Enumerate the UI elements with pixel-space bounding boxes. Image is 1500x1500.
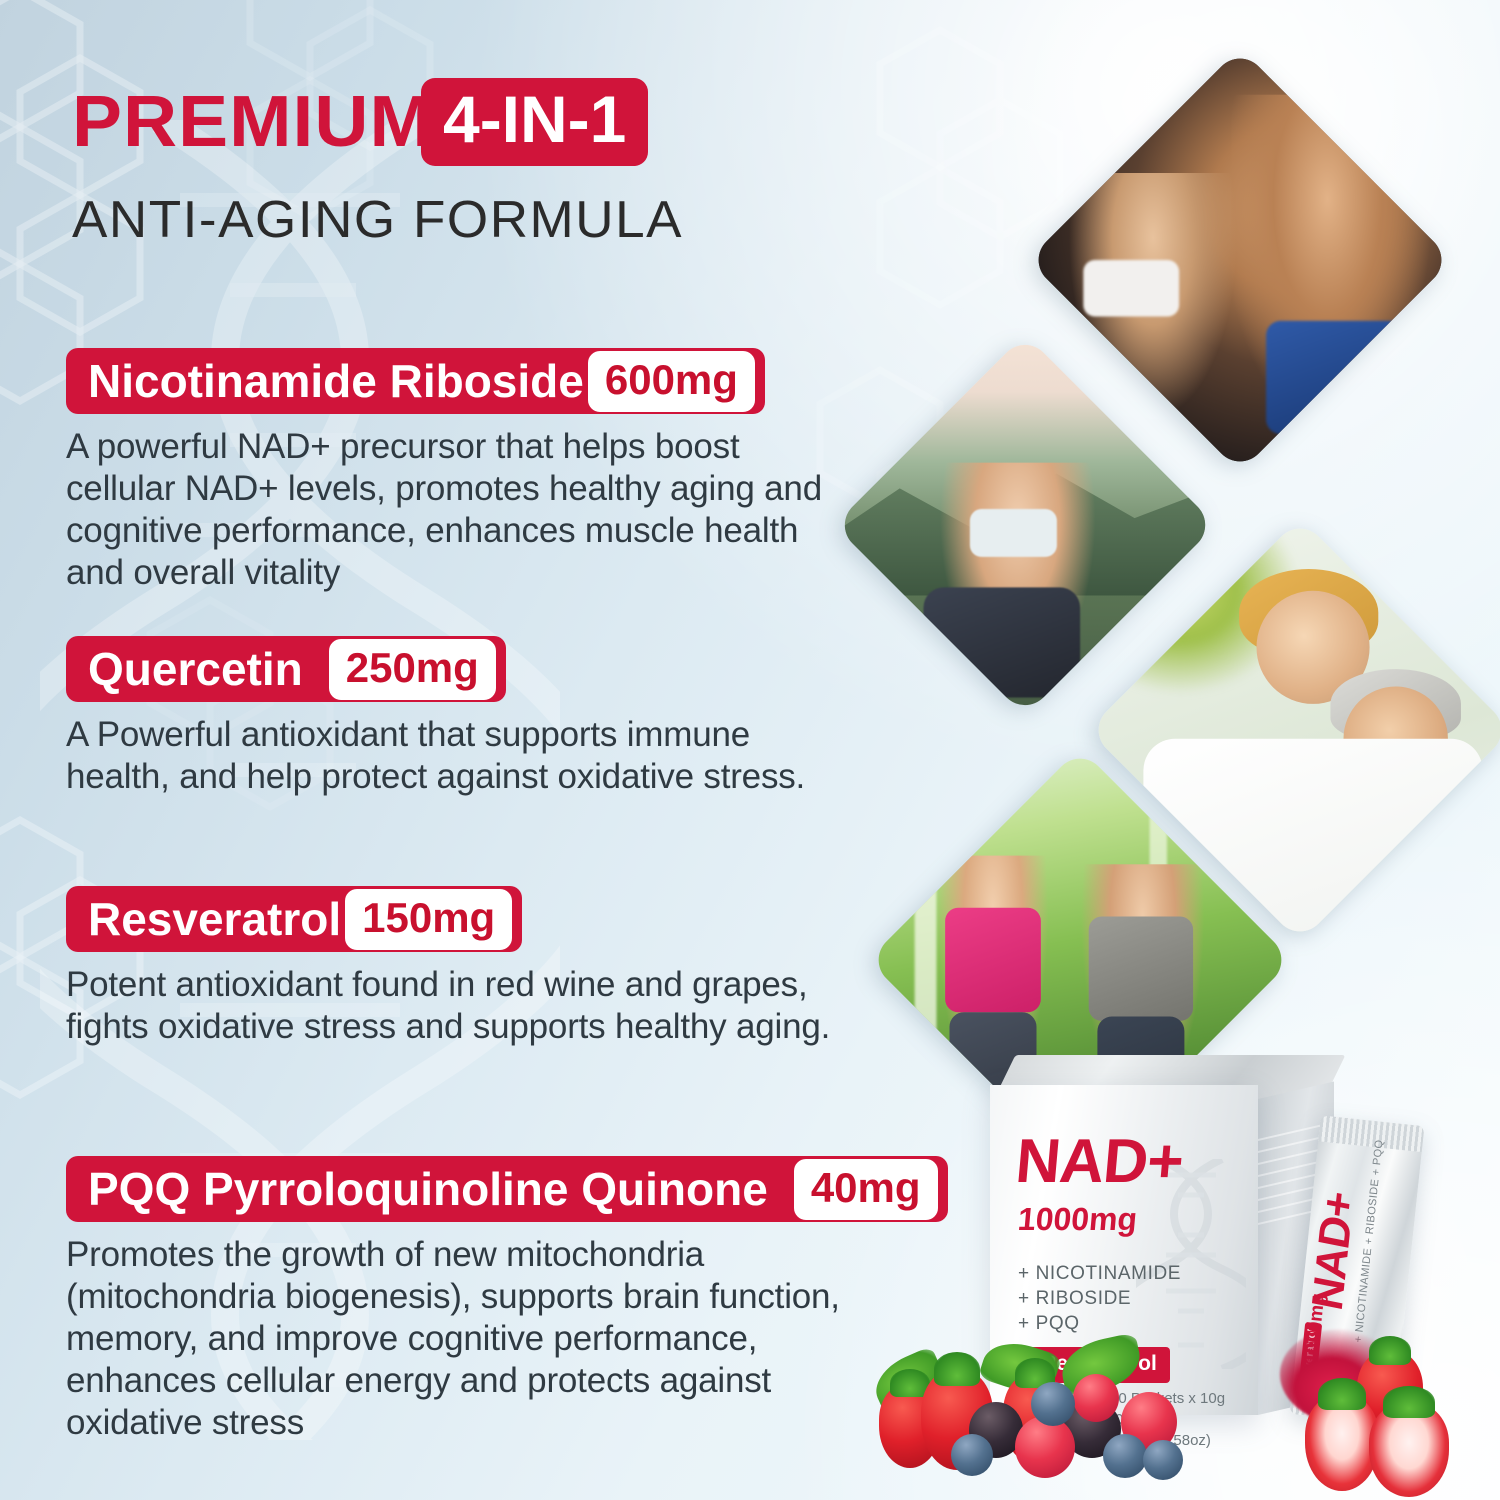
ingredient-block-pqq: PQQ Pyrroloquinoline Quinone 40mg Promot… xyxy=(66,1156,948,1444)
ingredient-name-bar: PQQ Pyrroloquinoline Quinone 40mg xyxy=(66,1156,948,1222)
ingredient-name: Quercetin xyxy=(88,644,303,694)
ingredient-dose-badge: 250mg xyxy=(329,639,496,700)
ingredient-description: Potent antioxidant found in red wine and… xyxy=(66,964,856,1048)
ingredient-name: Nicotinamide Riboside xyxy=(88,356,584,406)
ingredient-name: Resveratrol xyxy=(88,894,341,944)
ingredient-block-nicotinamide-riboside: Nicotinamide Riboside 600mg A powerful N… xyxy=(66,348,856,594)
package-ingredient-line: + NICOTINAMIDE xyxy=(1018,1261,1181,1286)
header: PREMIUM 4-IN-1 ANTI-AGING FORMULA xyxy=(72,78,952,250)
strawberries-decoration xyxy=(1295,1345,1495,1500)
ingredient-name-bar: Nicotinamide Riboside 600mg xyxy=(66,348,765,414)
ingredient-description: Promotes the growth of new mitochondria … xyxy=(66,1234,856,1444)
package-ingredient-line: + RIBOSIDE xyxy=(1018,1286,1181,1311)
product-infographic: PREMIUM 4-IN-1 ANTI-AGING FORMULA Nicoti… xyxy=(0,0,1500,1500)
page-title: PREMIUM xyxy=(72,85,433,159)
ingredient-description: A Powerful antioxidant that supports imm… xyxy=(66,714,856,798)
ingredient-description: A powerful NAD+ precursor that helps boo… xyxy=(66,426,856,594)
ingredient-name-bar: Resveratrol 150mg xyxy=(66,886,522,952)
package-ingredient-list: + NICOTINAMIDE + RIBOSIDE + PQQ xyxy=(1018,1261,1181,1336)
ingredient-name: PQQ Pyrroloquinoline Quinone xyxy=(88,1164,768,1214)
ingredient-block-quercetin: Quercetin 250mg A Powerful antioxidant t… xyxy=(66,636,856,798)
ingredient-dose-badge: 40mg xyxy=(794,1159,938,1220)
mixed-berries-decoration xyxy=(855,1330,1245,1500)
ingredient-dose-badge: 150mg xyxy=(345,889,512,950)
four-in-one-badge: 4-IN-1 xyxy=(421,78,648,166)
ingredient-block-resveratrol: Resveratrol 150mg Potent antioxidant fou… xyxy=(66,886,856,1048)
ingredient-name-bar: Quercetin 250mg xyxy=(66,636,506,702)
page-subtitle: ANTI-AGING FORMULA xyxy=(72,190,970,250)
package-dose: 1000mg xyxy=(1017,1203,1139,1235)
title-row: PREMIUM 4-IN-1 xyxy=(72,78,952,166)
ingredient-dose-badge: 600mg xyxy=(588,351,755,412)
package-brand: NAD+ xyxy=(1013,1131,1185,1193)
